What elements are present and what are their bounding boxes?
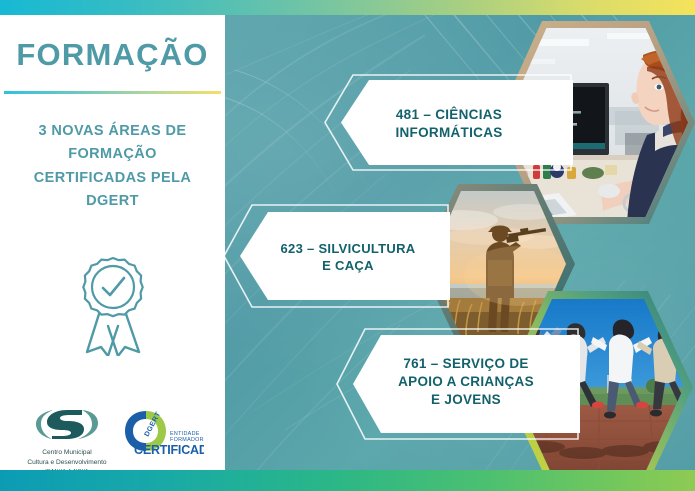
course-banner-623[interactable]: 623 – SILVICULTURA E CAÇA bbox=[225, 200, 450, 317]
poster-canvas: 481 – CIÊNCIAS INFORMÁTICAS 623 – SILVIC… bbox=[0, 0, 695, 491]
course-banner-623-label: 623 – SILVICULTURA E CAÇA bbox=[264, 240, 432, 275]
course-banner-481[interactable]: 481 – CIÊNCIAS INFORMÁTICAS bbox=[323, 70, 573, 180]
cmcd-mark-icon bbox=[26, 407, 108, 441]
title-divider bbox=[4, 91, 221, 94]
dgert-seal-icon: DGERT CERTIFICADA ENTIDADE FORMADORA bbox=[112, 407, 204, 459]
page-title: FORMAÇÃO bbox=[0, 37, 225, 73]
course-banner-761[interactable]: 761 – SERVIÇO DE APOIO A CRIANÇAS E JOVE… bbox=[335, 325, 580, 448]
dgert-line2: FORMADORA bbox=[170, 437, 204, 443]
award-ribbon-check-icon bbox=[77, 252, 149, 356]
cmcd-line1: Centro Municipal bbox=[26, 448, 108, 458]
dgert-word: CERTIFICADA bbox=[134, 443, 204, 457]
logo-centro-municipal: Centro Municipal Cultura e Desenvolvimen… bbox=[26, 407, 108, 477]
left-info-panel: FORMAÇÃO 3 NOVAS ÁREAS DE FORMAÇÃO CERTI… bbox=[0, 15, 225, 470]
bottom-gradient-bar bbox=[0, 470, 695, 491]
logo-row: Centro Municipal Cultura e Desenvolvimen… bbox=[0, 407, 225, 477]
top-gradient-bar bbox=[0, 0, 695, 15]
cmcd-line2: Cultura e Desenvolvimento bbox=[26, 458, 108, 468]
logo-dgert-certificada: DGERT CERTIFICADA ENTIDADE FORMADORA bbox=[112, 407, 204, 464]
course-banner-481-label: 481 – CIÊNCIAS INFORMÁTICAS bbox=[365, 106, 533, 142]
page-subtitle: 3 NOVAS ÁREAS DE FORMAÇÃO CERTIFICADAS P… bbox=[18, 120, 207, 214]
right-content-panel: 481 – CIÊNCIAS INFORMÁTICAS 623 – SILVIC… bbox=[225, 15, 695, 470]
course-banner-761-label: 761 – SERVIÇO DE APOIO A CRIANÇAS E JOVE… bbox=[377, 355, 555, 409]
